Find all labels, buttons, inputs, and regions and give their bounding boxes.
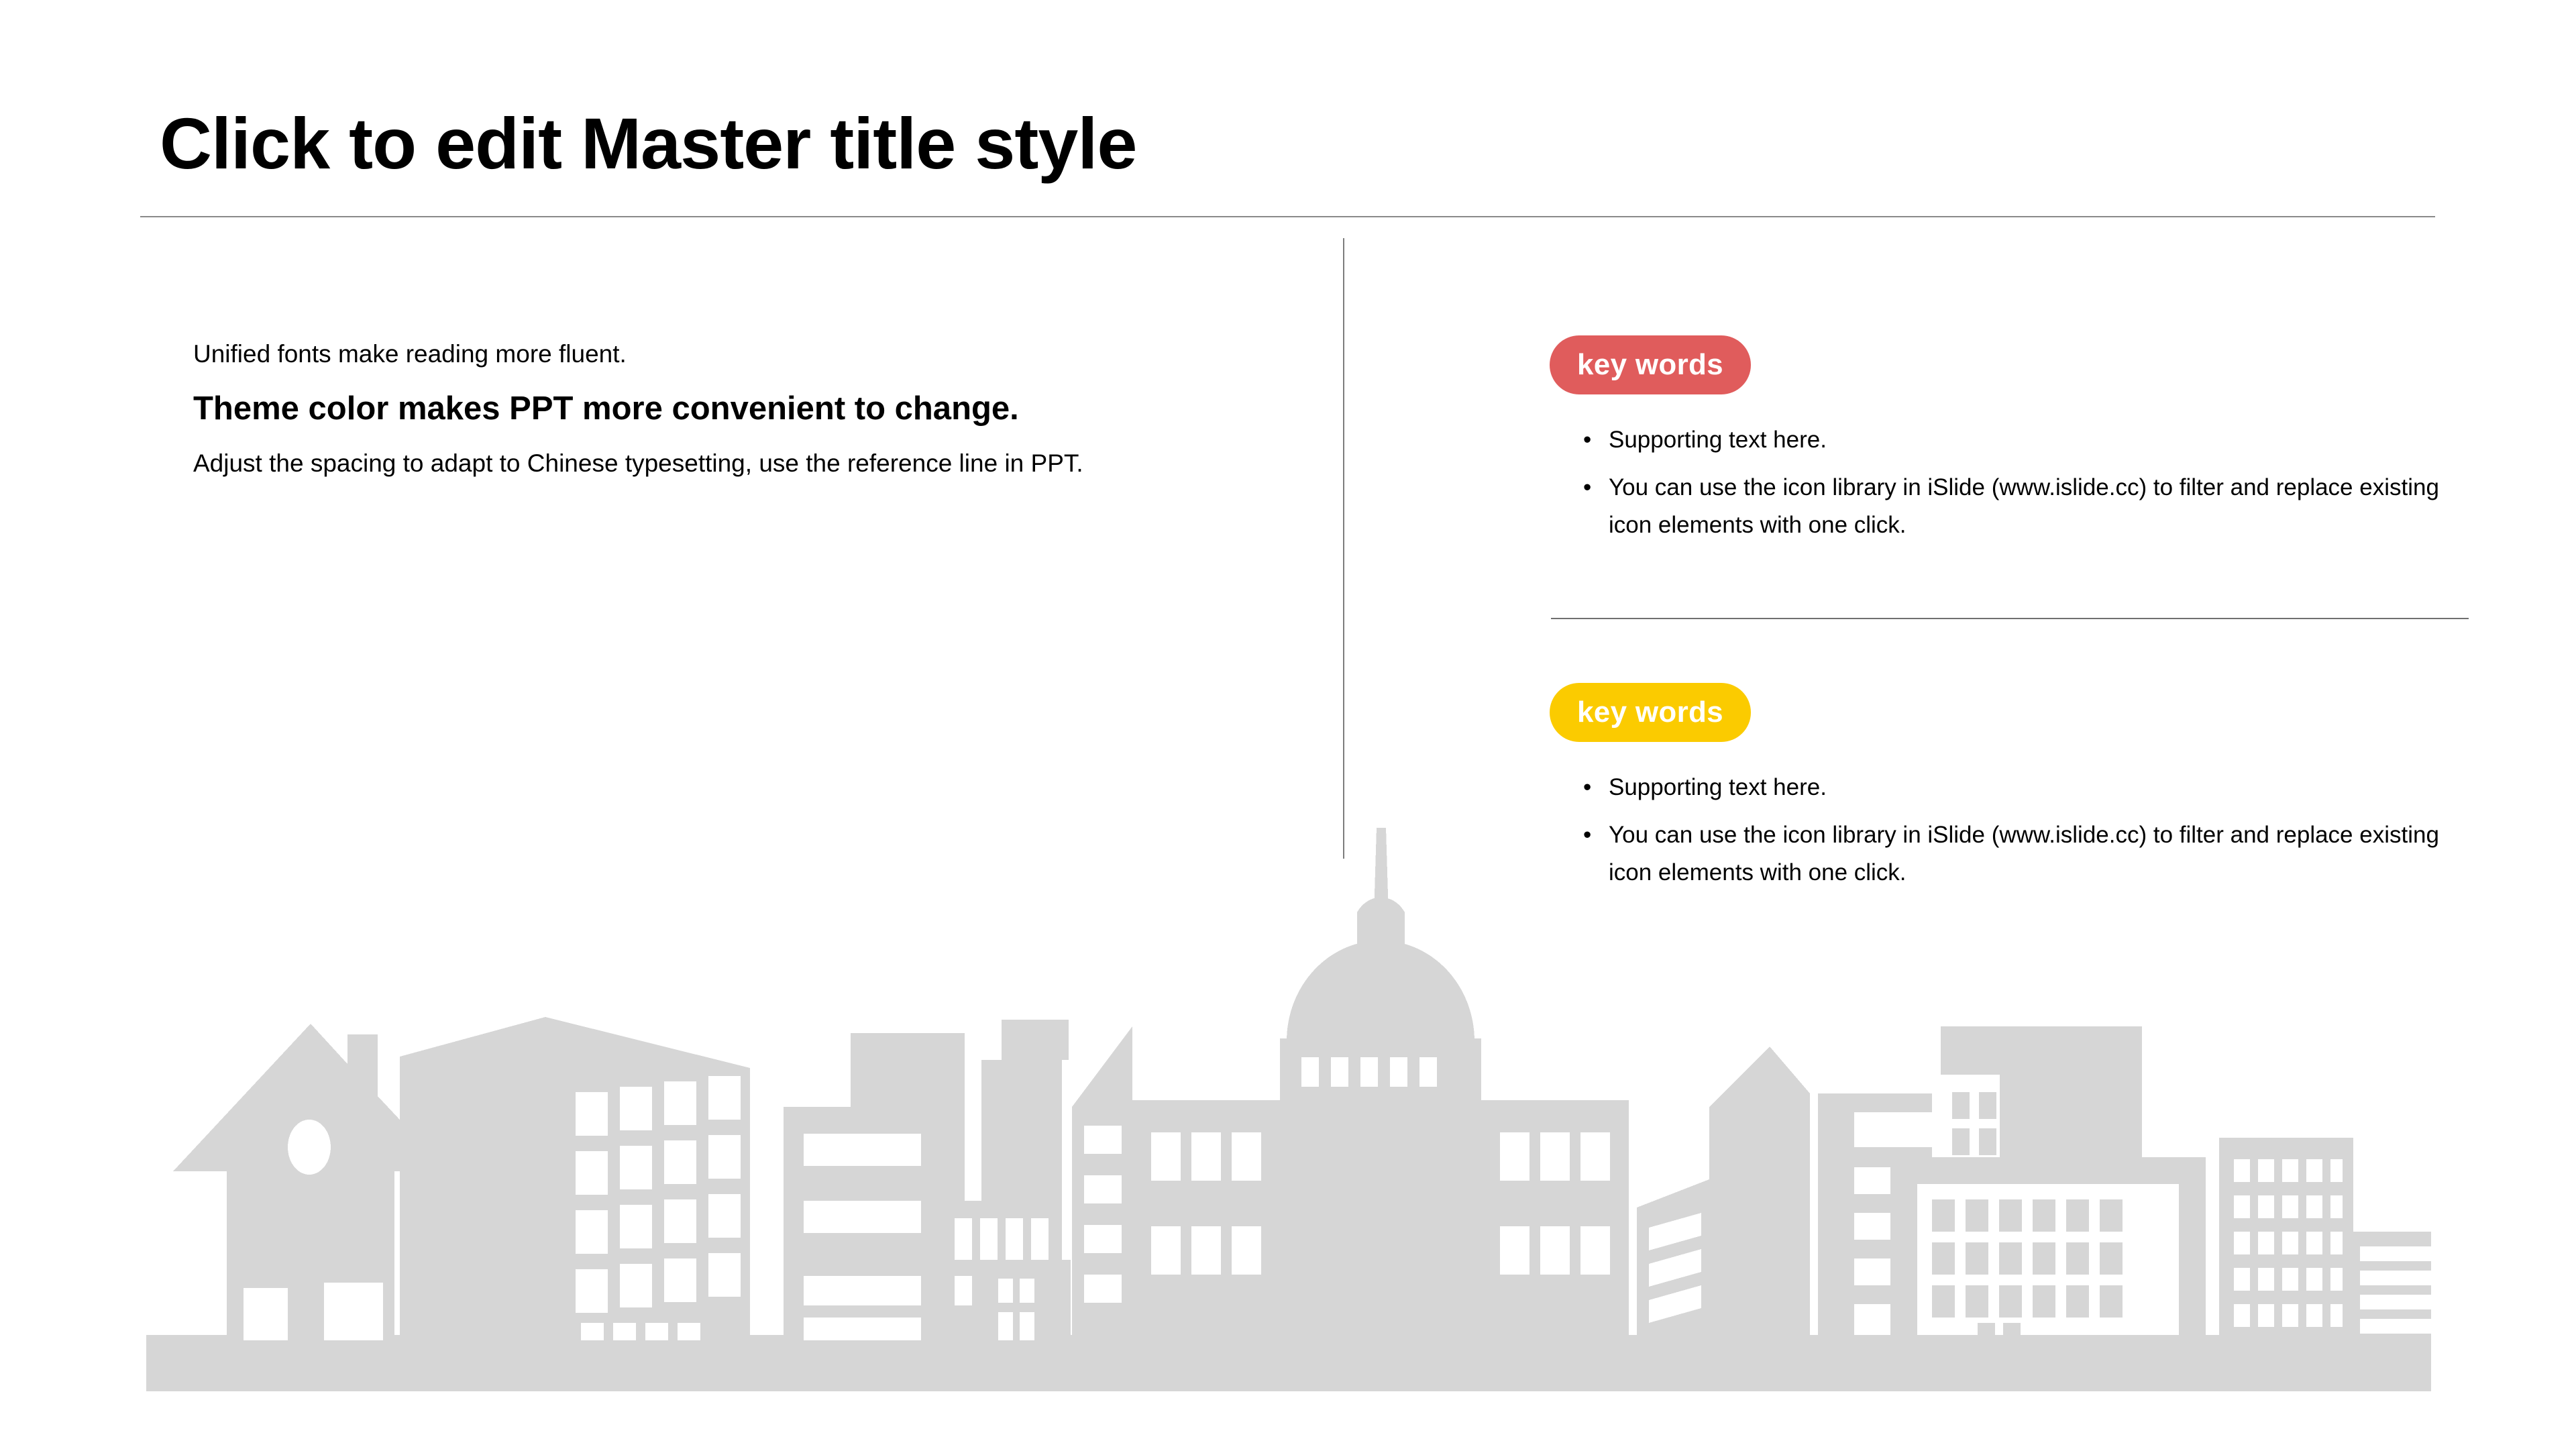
- list-item: • You can use the icon library in iSlide…: [1583, 469, 2475, 545]
- list-item: • You can use the icon library in iSlide…: [1583, 816, 2475, 892]
- list-item-label: Supporting text here.: [1609, 427, 1827, 453]
- list-item-label: You can use the icon library in iSlide (…: [1609, 474, 2439, 539]
- bullet-point-icon: •: [1583, 816, 1591, 855]
- list-item-label: You can use the icon library in iSlide (…: [1609, 822, 2439, 886]
- key-words-bullet-list-yellow: • Supporting text here. • You can use th…: [1550, 769, 2475, 892]
- title-underline-rule: [140, 216, 2435, 217]
- list-item: • Supporting text here.: [1583, 769, 2475, 807]
- list-item: • Supporting text here.: [1583, 421, 2475, 460]
- column-divider: [1343, 238, 1344, 859]
- page-title[interactable]: Click to edit Master title style: [160, 104, 1136, 184]
- bullet-point-icon: •: [1583, 469, 1591, 507]
- left-paragraph-1: Unified fonts make reading more fluent.: [193, 335, 1240, 373]
- bullet-point-icon: •: [1583, 769, 1591, 807]
- key-words-section-red: key words • Supporting text here. • You …: [1550, 335, 2475, 554]
- key-words-bullet-list-red: • Supporting text here. • You can use th…: [1550, 421, 2475, 545]
- bullet-point-icon: •: [1583, 421, 1591, 460]
- key-words-section-yellow: key words • Supporting text here. • You …: [1550, 683, 2475, 902]
- list-item-label: Supporting text here.: [1609, 774, 1827, 800]
- key-words-section-divider: [1551, 618, 2469, 619]
- city-skyline-silhouette-icon: [146, 825, 2431, 1391]
- page-number: 4: [2404, 1330, 2418, 1358]
- footer-watermark-url: www.islide.cc: [156, 1334, 288, 1358]
- key-words-badge-red[interactable]: key words: [1550, 335, 1751, 394]
- left-paragraph-3: Adjust the spacing to adapt to Chinese t…: [193, 443, 1240, 484]
- key-words-badge-yellow[interactable]: key words: [1550, 683, 1751, 742]
- left-paragraph-2: Theme color makes PPT more convenient to…: [193, 382, 1240, 435]
- left-body-text-block[interactable]: Unified fonts make reading more fluent. …: [193, 335, 1240, 484]
